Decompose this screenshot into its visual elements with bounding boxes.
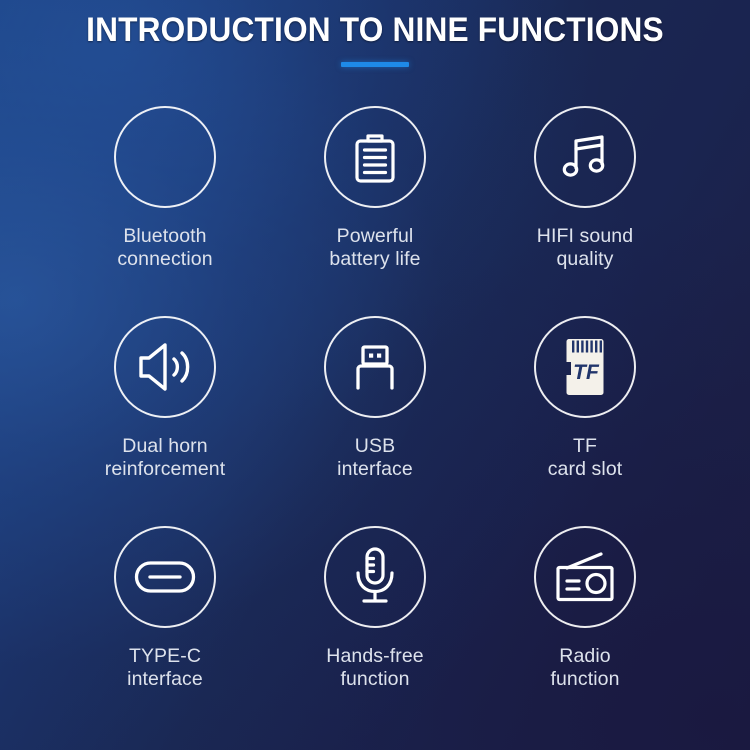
feature-label: TF card slot [548,435,623,481]
feature-label: USB interface [337,435,413,481]
feature-label: Radio function [550,645,619,691]
feature-item-dual-horn-reinforcement[interactable]: Dual horn reinforcement [60,316,270,526]
feature-item-bluetooth-connection[interactable]: Bluetooth connection [60,106,270,316]
feature-label: Bluetooth connection [117,225,212,271]
nine-functions-poster: INTRODUCTION TO NINE FUNCTIONS Bluetooth… [0,0,750,750]
feature-label: Hands-free function [326,645,423,691]
feature-item-type-c-interface[interactable]: TYPE-C interface [60,526,270,736]
feature-item-radio-function[interactable]: Radio function [480,526,690,736]
microphone-icon [351,546,399,608]
radio-icon-wrap [534,526,636,628]
feature-grid: Bluetooth connection Powerful battery li… [60,106,690,736]
feature-label: Dual horn reinforcement [105,435,226,481]
feature-label: HIFI sound quality [537,225,633,271]
battery-icon [352,129,398,185]
tf-card-icon: TF [559,335,611,399]
music-note-icon-wrap [534,106,636,208]
speaker-icon-wrap [114,316,216,418]
feature-item-usb-interface[interactable]: USB interface [270,316,480,526]
feature-item-tf-card-slot[interactable]: TF TF card slot [480,316,690,526]
usb-icon [349,340,401,394]
tf-card-icon-wrap: TF [534,316,636,418]
page-title: INTRODUCTION TO NINE FUNCTIONS [26,0,724,49]
battery-icon-wrap [324,106,426,208]
usb-type-c-icon [134,560,196,594]
bluetooth-icon [114,106,216,208]
poster-header: INTRODUCTION TO NINE FUNCTIONS [0,0,750,100]
feature-item-powerful-battery-life[interactable]: Powerful battery life [270,106,480,316]
feature-item-hands-free-function[interactable]: Hands-free function [270,526,480,736]
usb-type-c-icon-wrap [114,526,216,628]
usb-icon-wrap [324,316,426,418]
tf-card-label: TF [573,361,600,384]
title-accent-bar [341,62,409,67]
feature-label: TYPE-C interface [127,645,203,691]
feature-item-hifi-sound-quality[interactable]: HIFI sound quality [480,106,690,316]
feature-label: Powerful battery life [329,225,420,271]
microphone-icon-wrap [324,526,426,628]
radio-icon [554,550,616,604]
speaker-icon [136,341,194,393]
music-note-icon [558,130,612,184]
